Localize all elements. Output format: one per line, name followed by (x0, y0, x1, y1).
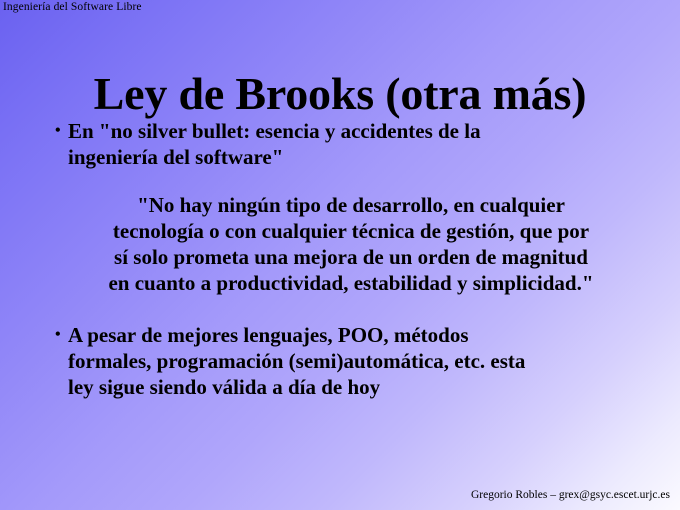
bullet-dot-icon: • (55, 322, 61, 348)
bullet-item-2: • A pesar de mejores lenguajes, POO, mét… (52, 322, 650, 400)
quote-line: "No hay ningún tipo de desarrollo, en cu… (56, 192, 646, 218)
quote-line: sí solo prometa una mejora de un orden d… (56, 244, 646, 270)
quote-block: "No hay ningún tipo de desarrollo, en cu… (56, 192, 646, 296)
bullet-line: ley sigue siendo válida a día de hoy (68, 374, 650, 400)
quote-line: tecnología o con cualquier técnica de ge… (56, 218, 646, 244)
bullet-line: ingeniería del software" (68, 144, 650, 170)
bullet-line: A pesar de mejores lenguajes, POO, métod… (68, 322, 650, 348)
slide-canvas: Ingeniería del Software Libre Ley de Bro… (0, 0, 680, 510)
slide-footer-author: Gregorio Robles – grex@gsyc.escet.urjc.e… (471, 488, 670, 502)
bullet-line: formales, programación (semi)automática,… (68, 348, 650, 374)
slide-running-header: Ingeniería del Software Libre (3, 1, 142, 14)
slide-body: • En "no silver bullet: esencia y accide… (52, 118, 650, 400)
bullet-dot-icon: • (55, 118, 61, 144)
bullet-item-1: • En "no silver bullet: esencia y accide… (52, 118, 650, 170)
slide-title: Ley de Brooks (otra más) (0, 67, 680, 121)
bullet-line: En "no silver bullet: esencia y accident… (68, 118, 650, 144)
quote-line: en cuanto a productividad, estabilidad y… (56, 270, 646, 296)
